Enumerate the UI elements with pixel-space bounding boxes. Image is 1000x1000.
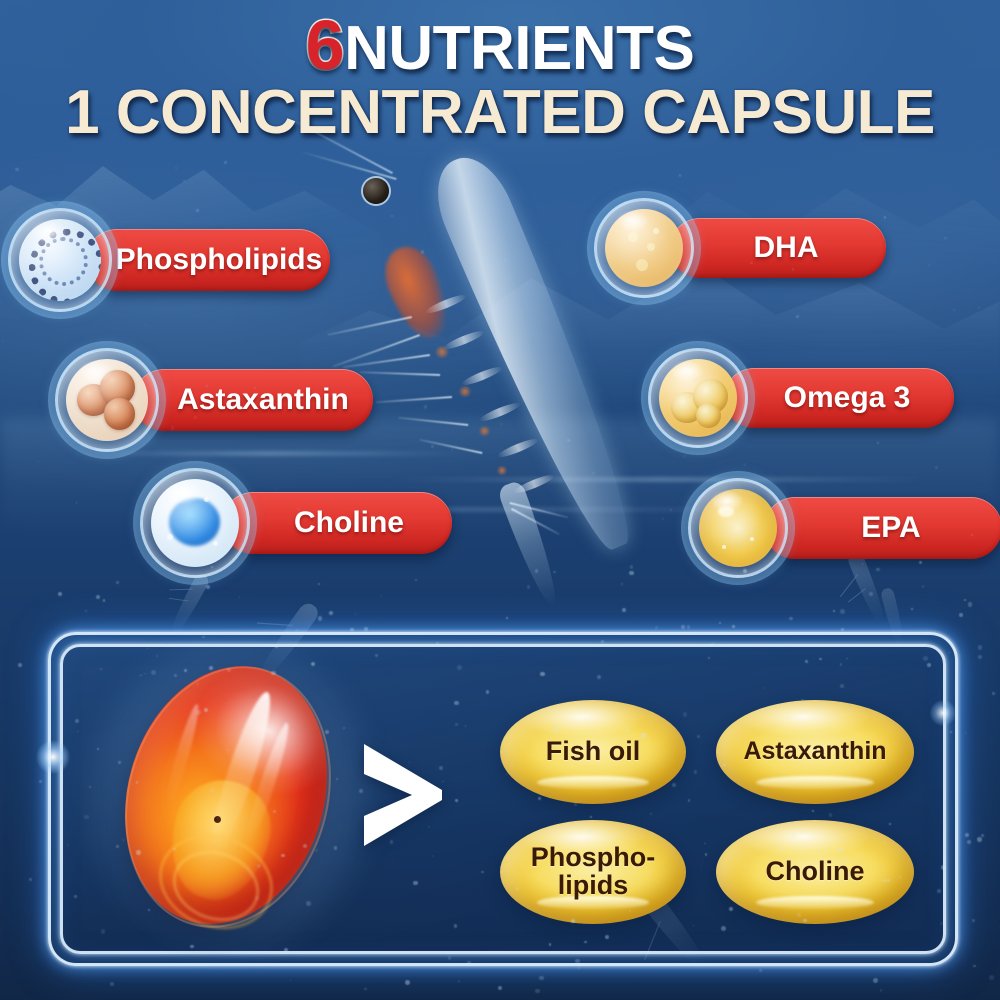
- bubble-speck: [405, 980, 410, 985]
- bubble-speck: [424, 405, 427, 408]
- bubble-speck: [789, 617, 792, 620]
- bubble-speck: [118, 761, 120, 763]
- bubble-speck: [110, 982, 114, 986]
- nutrient-badge-epa[interactable]: EPA: [688, 478, 1000, 578]
- page-title: 6NUTRIENTS 1 CONCENTRATED CAPSULE: [0, 12, 1000, 143]
- bubble-speck: [959, 613, 963, 617]
- bubble-speck: [227, 749, 229, 751]
- bubble-speck: [206, 585, 211, 590]
- bubble-speck: [273, 810, 276, 813]
- bubble-speck: [415, 579, 417, 581]
- bubble-speck: [590, 816, 592, 818]
- bubble-speck: [629, 571, 634, 576]
- bubble-speck: [759, 969, 762, 972]
- bubble-speck: [428, 826, 430, 828]
- bubble-speck: [575, 959, 579, 963]
- bubble-speck: [467, 961, 471, 965]
- bubble-speck: [204, 708, 208, 712]
- title-nutrients-text: NUTRIENTS: [344, 14, 694, 83]
- bubble-speck: [224, 161, 227, 164]
- bubble-speck: [58, 592, 62, 596]
- bubble-speck: [538, 797, 541, 800]
- bubble-speck: [96, 595, 100, 599]
- bubble-speck: [486, 690, 490, 694]
- bubble-speck: [981, 834, 984, 837]
- bubble-speck: [18, 663, 22, 667]
- bubble-speck: [630, 565, 633, 568]
- nutrient-badge-phospholipids[interactable]: Phospholipids: [8, 208, 330, 312]
- bubble-speck: [833, 610, 835, 612]
- bubble-speck: [508, 487, 511, 490]
- bubble-speck: [911, 608, 912, 609]
- bubble-speck: [840, 663, 842, 665]
- bubble-speck: [965, 732, 966, 733]
- bubble-speck: [504, 259, 507, 262]
- bubble-speck: [381, 596, 382, 597]
- bubble-speck: [315, 259, 317, 261]
- bubble-speck: [364, 627, 367, 630]
- bubble-speck: [978, 655, 982, 659]
- bubble-speck: [869, 592, 873, 596]
- nutrient-pill-phospholipids[interactable]: Phospholipids: [86, 229, 330, 291]
- nutrient-pill-omega3[interactable]: Omega 3: [724, 368, 954, 428]
- bubble-speck: [184, 669, 187, 672]
- bubble-speck: [239, 596, 240, 597]
- bubble-speck: [732, 625, 735, 628]
- bubble-speck: [791, 833, 796, 838]
- bubble-speck: [978, 645, 982, 649]
- bubble-speck: [74, 895, 77, 898]
- bubble-speck: [296, 629, 298, 631]
- bubble-speck: [190, 945, 193, 948]
- nutrient-badge-dha[interactable]: DHA: [594, 198, 886, 298]
- bubble-speck: [303, 844, 307, 848]
- bubble-speck: [535, 569, 538, 572]
- bubble-speck: [688, 799, 690, 801]
- bubble-speck: [431, 445, 434, 448]
- bubble-speck: [75, 719, 79, 723]
- bubble-speck: [116, 581, 119, 584]
- bubble-speck: [922, 586, 924, 588]
- bubble-speck: [622, 608, 626, 612]
- bubble-speck: [359, 789, 363, 793]
- bubble-speck: [972, 919, 976, 923]
- bubble-speck: [210, 788, 215, 793]
- bubble-speck: [923, 656, 928, 661]
- bubble-speck: [571, 919, 575, 923]
- bubble-speck: [284, 722, 288, 726]
- softgel-fish-oil: Fish oil: [500, 700, 686, 804]
- bubble-speck: [123, 839, 124, 840]
- softgel-label: Choline: [766, 858, 865, 886]
- bubble-speck: [967, 840, 972, 845]
- bubble-speck: [965, 833, 969, 837]
- nutrient-badge-choline[interactable]: Choline: [140, 468, 452, 578]
- nutrient-badge-astaxanthin[interactable]: Astaxanthin: [55, 348, 373, 452]
- nutrient-label: Astaxanthin: [177, 383, 349, 417]
- bubble-speck: [100, 668, 102, 670]
- bubble-speck: [84, 815, 89, 820]
- bubble-speck: [626, 729, 629, 732]
- bubble-speck: [29, 878, 32, 881]
- bubble-speck: [978, 307, 980, 309]
- bubble-speck: [884, 216, 886, 218]
- dha-bubble-icon: [594, 198, 694, 298]
- softgel-phospholipids: Phospho-lipids: [500, 820, 686, 924]
- bubble-speck: [457, 665, 462, 670]
- softgel-choline: Choline: [716, 820, 914, 924]
- softgel-label: Phospho-lipids: [531, 844, 655, 899]
- title-number: 6: [306, 6, 344, 84]
- nutrient-label: EPA: [861, 511, 920, 545]
- bubble-speck: [297, 508, 299, 510]
- krill-oil-capsule: [110, 660, 350, 930]
- bubble-speck: [796, 315, 799, 318]
- bubble-speck: [196, 710, 201, 715]
- bubble-speck: [687, 625, 690, 628]
- panel-glow-spark: [36, 740, 70, 774]
- bubble-speck: [670, 509, 672, 511]
- bubble-speck: [145, 324, 147, 326]
- bubble-speck: [574, 803, 577, 806]
- phospholipid-bubble-icon: [8, 208, 112, 312]
- bubble-speck: [539, 976, 544, 981]
- promo-infographic: 6NUTRIENTS 1 CONCENTRATED CAPSULE: [0, 0, 1000, 1000]
- nutrient-pill-epa[interactable]: EPA: [764, 497, 1000, 559]
- bubble-speck: [567, 439, 570, 442]
- bubble-speck: [944, 237, 947, 240]
- bubble-speck: [85, 610, 87, 612]
- bubble-speck: [779, 847, 784, 852]
- bubble-speck: [148, 909, 149, 910]
- bubble-speck: [549, 943, 551, 945]
- bubble-speck: [928, 264, 930, 266]
- bubble-speck: [743, 463, 746, 466]
- bubble-speck: [535, 989, 539, 993]
- bubble-speck: [421, 250, 424, 253]
- bubble-speck: [156, 655, 158, 657]
- panel-glow-spark: [930, 700, 956, 726]
- nutrient-label: Omega 3: [784, 381, 911, 415]
- astaxanthin-bubble-icon: [55, 348, 159, 452]
- bubble-speck: [196, 209, 199, 212]
- softgel-label: Astaxanthin: [743, 739, 886, 765]
- bubble-speck: [899, 876, 902, 879]
- bubble-speck: [953, 309, 955, 311]
- bubble-speck: [812, 810, 814, 812]
- bubble-speck: [281, 854, 284, 857]
- bubble-speck: [592, 472, 594, 474]
- bubble-speck: [284, 948, 288, 952]
- bubble-speck: [914, 259, 915, 260]
- bubble-speck: [968, 602, 972, 606]
- nutrient-pill-astaxanthin[interactable]: Astaxanthin: [133, 369, 373, 431]
- bubble-speck: [679, 174, 681, 176]
- bubble-speck: [992, 692, 994, 694]
- bubble-speck: [2, 340, 4, 342]
- bubble-speck: [672, 783, 676, 787]
- bubble-speck: [174, 674, 177, 677]
- bubble-speck: [318, 583, 321, 586]
- bubble-speck: [536, 376, 537, 377]
- bubble-speck: [719, 622, 721, 624]
- bubble-speck: [151, 670, 156, 675]
- bubble-speck: [409, 762, 410, 763]
- bubble-speck: [723, 764, 725, 766]
- bubble-speck: [467, 387, 468, 388]
- bubble-speck: [175, 167, 177, 169]
- bubble-speck: [681, 625, 684, 628]
- softgel-label: Fish oil: [546, 738, 641, 766]
- bubble-speck: [350, 628, 354, 632]
- bubble-speck: [455, 723, 458, 726]
- bubble-speck: [889, 823, 891, 825]
- nutrient-badge-omega3[interactable]: Omega 3: [648, 348, 954, 448]
- bubble-speck: [977, 837, 982, 842]
- nutrient-pill-dha[interactable]: DHA: [670, 218, 886, 278]
- bubble-speck: [883, 842, 885, 844]
- bubble-speck: [880, 989, 883, 992]
- bubble-speck: [202, 636, 204, 638]
- bubble-speck: [546, 242, 547, 243]
- nutrient-label: Phospholipids: [116, 243, 323, 277]
- bubble-speck: [334, 846, 337, 849]
- bubble-speck: [21, 196, 22, 197]
- nutrient-label: DHA: [754, 231, 819, 265]
- bubble-speck: [535, 199, 536, 200]
- bubble-speck: [465, 725, 466, 726]
- greater-than-icon: [356, 740, 446, 850]
- bubble-speck: [364, 988, 366, 990]
- bubble-speck: [215, 811, 217, 813]
- title-subtitle: 1 CONCENTRATED CAPSULE: [0, 83, 1000, 143]
- nutrient-label: Choline: [294, 506, 404, 540]
- bubble-speck: [553, 571, 555, 573]
- bubble-speck: [355, 614, 357, 616]
- bubble-speck: [116, 845, 119, 848]
- bubble-speck: [989, 975, 994, 980]
- bubble-speck: [136, 850, 141, 855]
- bubble-speck: [290, 980, 291, 981]
- omega3-bubble-icon: [648, 348, 748, 448]
- bubble-speck: [840, 609, 845, 614]
- bubble-speck: [849, 709, 851, 711]
- bubble-speck: [873, 978, 878, 983]
- bubble-speck: [964, 599, 966, 601]
- bubble-speck: [329, 611, 333, 615]
- bubble-speck: [391, 215, 393, 217]
- bubble-speck: [877, 442, 879, 444]
- bubble-speck: [454, 924, 457, 927]
- bubble-speck: [973, 965, 976, 968]
- bubble-speck: [950, 731, 952, 733]
- bubble-speck: [255, 896, 259, 900]
- bubble-speck: [887, 879, 890, 882]
- softgel-group: Fish oil Astaxanthin Phospho-lipids Chol…: [494, 700, 914, 920]
- bubble-speck: [257, 864, 261, 868]
- bubble-speck: [841, 628, 843, 630]
- epa-bubble-icon: [688, 478, 788, 578]
- bubble-speck: [318, 616, 322, 620]
- bubble-speck: [209, 666, 212, 669]
- bubble-speck: [621, 583, 624, 586]
- bubble-speck: [390, 840, 394, 844]
- softgel-astaxanthin: Astaxanthin: [716, 700, 914, 804]
- bubble-speck: [641, 733, 645, 737]
- bubble-speck: [578, 967, 580, 969]
- bubble-speck: [472, 234, 475, 237]
- bubble-speck: [498, 986, 503, 991]
- bubble-speck: [448, 956, 451, 959]
- bubble-speck: [144, 673, 145, 674]
- bubble-speck: [805, 660, 807, 662]
- bubble-speck: [76, 502, 78, 504]
- bubble-speck: [15, 168, 18, 171]
- bubble-speck: [862, 563, 864, 565]
- bubble-speck: [183, 180, 185, 182]
- bubble-speck: [101, 929, 106, 934]
- bubble-speck: [597, 675, 601, 679]
- bubble-speck: [103, 599, 106, 602]
- bubble-speck: [527, 585, 530, 588]
- bubble-speck: [173, 848, 176, 851]
- bubble-speck: [12, 176, 13, 177]
- choline-bubble-icon: [140, 468, 250, 578]
- bubble-speck: [655, 626, 658, 629]
- bubble-speck: [697, 735, 700, 738]
- bubble-speck: [306, 901, 311, 906]
- bubble-speck: [39, 780, 42, 783]
- bubble-speck: [506, 617, 508, 619]
- bubble-speck: [803, 919, 807, 923]
- bubble-speck: [458, 981, 459, 982]
